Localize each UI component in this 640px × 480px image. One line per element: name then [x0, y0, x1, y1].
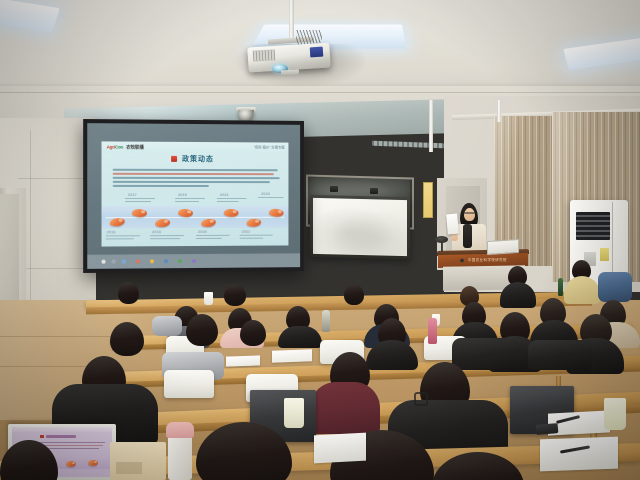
student-head [240, 320, 266, 346]
snack-bag [110, 442, 166, 480]
notebook[interactable] [314, 433, 366, 464]
timeline-year-bottom: 2022 [241, 229, 250, 234]
timeline-caption [150, 238, 180, 239]
slide-body-line [113, 177, 280, 179]
presentation-slide: AgriCon 农牧联播 "保供·稳价" 生猪专题 政策动态 2017 2019… [101, 141, 288, 246]
wall-seam-upper [0, 92, 640, 93]
mirrored-title-mark [40, 435, 44, 438]
wall-tile-seam-vert [30, 130, 31, 318]
timeline-caption [196, 238, 222, 239]
projector-foot [281, 70, 299, 77]
student-body [278, 326, 322, 348]
presenter-glasses-icon [464, 212, 475, 214]
desktop-taskbar[interactable] [87, 253, 300, 269]
board-clip-right [370, 188, 378, 194]
taskbar-icon[interactable] [164, 259, 168, 263]
slide-logo-text: Agri [107, 144, 115, 149]
ac-energy-label [600, 248, 609, 261]
timeline-year-top: 2021 [220, 192, 229, 197]
student-head [110, 322, 144, 356]
taskbar-icon[interactable] [122, 260, 126, 264]
drink-cup [284, 398, 304, 428]
projector-indicator [310, 47, 324, 58]
projector-vent [253, 49, 276, 61]
slide-logo: AgriCon 农牧联播 [107, 143, 144, 150]
presenter-scarf [463, 224, 472, 248]
timeline-caption [175, 201, 199, 202]
slide-body-line [113, 173, 274, 175]
slide-brand: 农牧联播 [126, 145, 143, 150]
student-head [186, 314, 218, 346]
slide-logo-accent: Con [115, 145, 123, 150]
microphone [435, 236, 448, 243]
slide-body-line [113, 169, 278, 171]
floor-seam-1 [0, 336, 120, 337]
thermos-cap [166, 422, 194, 438]
timeline-year-bottom: 2016 [107, 229, 116, 234]
ceiling-vent-right [372, 141, 444, 149]
paper-cup [204, 292, 213, 305]
timeline-year-bottom: 2018 [152, 229, 161, 234]
student-head [344, 284, 364, 305]
timeline-caption [125, 198, 155, 199]
snack-bag-label [116, 462, 142, 474]
drink-cup [604, 398, 626, 430]
timeline-caption [196, 235, 230, 236]
timeline-year-bottom: 2020 [198, 229, 207, 234]
student-head [224, 284, 246, 306]
phone[interactable] [536, 423, 559, 435]
projector-mount-pole [289, 0, 294, 40]
notebook[interactable] [540, 437, 618, 472]
mirrored-slide-header [12, 427, 112, 432]
support-pole-right [497, 100, 501, 122]
backpack [152, 316, 182, 336]
chair[interactable] [164, 370, 214, 398]
water-bottle [428, 318, 437, 344]
taskbar-icon[interactable] [101, 260, 105, 264]
support-pole-left [429, 100, 433, 152]
board-clip-left [330, 186, 338, 192]
taskbar-icon[interactable] [178, 259, 182, 263]
taskbar-icon[interactable] [150, 259, 154, 263]
mirrored-slide-title [46, 435, 76, 438]
timeline-caption [217, 201, 239, 202]
backpack [598, 272, 632, 302]
taskbar-icon[interactable] [136, 259, 140, 263]
timeline-year-top: 2019 [178, 192, 187, 197]
notebook[interactable] [226, 355, 260, 366]
backpack [528, 340, 592, 370]
timeline-caption [106, 238, 134, 239]
taskbar-icon[interactable] [112, 260, 116, 264]
institution-logo [458, 257, 466, 264]
whiteboard-marks [313, 198, 407, 256]
slide-title-marker [171, 156, 177, 162]
taskbar-icon[interactable] [192, 259, 196, 263]
lecture-hall-photo: AgriCon 农牧联播 "保供·稳价" 生猪专题 政策动态 2017 2019… [0, 0, 640, 480]
timeline-caption [217, 198, 247, 199]
water-bottle [322, 310, 330, 332]
student-head [118, 282, 139, 304]
notebook[interactable] [272, 349, 312, 362]
timeline-caption [150, 235, 184, 236]
ac-vent-grill [576, 212, 610, 240]
slide-body-line [113, 181, 270, 183]
projection-screen[interactable]: AgriCon 农牧联播 "保供·稳价" 生猪专题 政策动态 2017 2019… [87, 123, 300, 269]
slide-title: 政策动态 [182, 155, 214, 164]
presenter-hand [451, 234, 458, 241]
student-body [310, 382, 380, 434]
student-body [564, 276, 600, 304]
timeline-caption [258, 197, 283, 198]
presenter-face [464, 208, 475, 221]
timeline-year-top: 2017 [128, 192, 137, 197]
timeline-year-top: 2023 [261, 191, 270, 196]
slide-body-line [113, 185, 209, 187]
yellow-wall-sign [423, 182, 433, 218]
presenter-paper[interactable] [446, 214, 459, 235]
timeline-caption [175, 198, 205, 199]
water-bottle [558, 278, 563, 296]
lectern-plate: 中国农业科学院研究院 [468, 257, 507, 263]
student-glasses-icon [414, 392, 428, 406]
timeline-caption [240, 238, 264, 239]
timeline-caption [106, 235, 140, 236]
timeline-caption [240, 235, 273, 236]
backpack [452, 338, 524, 370]
slide-header-right: "保供·稳价" 生猪专题 [254, 145, 285, 150]
presenter-laptop[interactable] [487, 239, 519, 255]
timeline-caption [125, 201, 151, 202]
